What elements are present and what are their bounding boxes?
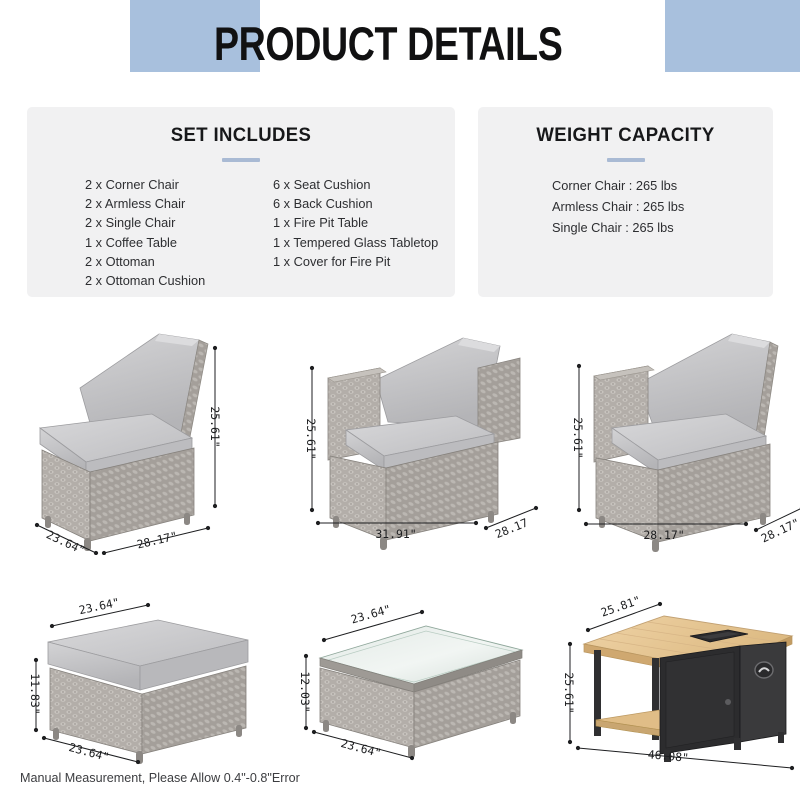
list-item: 1 x Coffee Table	[85, 233, 273, 252]
list-item: 2 x Corner Chair	[85, 175, 273, 194]
dim-height: 25.61"	[208, 406, 222, 447]
page-title: PRODUCT DETAILS	[214, 20, 562, 67]
list-item: 2 x Armless Chair	[85, 194, 273, 213]
list-item: 1 x Cover for Fire Pit	[273, 252, 453, 271]
product-coffee-table: 23.64" 12.03" 23.64"	[288, 600, 550, 770]
dim-width-top: 23.64"	[349, 602, 392, 627]
set-includes-divider	[222, 158, 260, 162]
dim-depth: 23.64"	[339, 736, 382, 760]
list-item: 2 x Single Chair	[85, 213, 273, 232]
dim-height: 12.03"	[298, 671, 312, 712]
list-item: Corner Chair : 265 lbs	[552, 175, 773, 196]
list-item: 1 x Tempered Glass Tabletop	[273, 233, 453, 252]
dim-width: 31.91"	[375, 527, 416, 541]
set-includes-title: SET INCLUDES	[38, 124, 445, 147]
dim-depth-top: 25.81"	[599, 593, 642, 620]
weight-capacity-title: WEIGHT CAPACITY	[485, 124, 765, 147]
weight-capacity-panel: WEIGHT CAPACITY Corner Chair : 265 lbs A…	[478, 107, 773, 297]
set-includes-body: 2 x Corner Chair 2 x Armless Chair 2 x S…	[27, 175, 455, 290]
list-item: 1 x Fire Pit Table	[273, 213, 453, 232]
measurement-disclaimer: Manual Measurement, Please Allow 0.4"-0.…	[20, 771, 300, 785]
list-item: 2 x Ottoman	[85, 252, 273, 271]
list-item: Armless Chair : 265 lbs	[552, 196, 773, 217]
product-corner-chair: 25.61" 28.17" 28.17"	[562, 310, 800, 555]
list-item: 6 x Seat Cushion	[273, 175, 453, 194]
dim-width: 46.08"	[647, 747, 689, 765]
dim-depth: 28.17"	[135, 529, 178, 552]
page-header: PRODUCT DETAILS	[0, 0, 800, 95]
product-single-chair: 25.61" 31.91" 28.17	[288, 310, 558, 555]
dim-width: 28.17"	[643, 528, 684, 542]
product-ottoman: 23.64" 11.83" 23.64"	[18, 590, 280, 770]
header-accent-block-right	[665, 0, 800, 72]
dim-depth: 28.17	[493, 515, 530, 541]
set-includes-panel: SET INCLUDES 2 x Corner Chair 2 x Armles…	[27, 107, 455, 297]
dim-height: 11.83"	[28, 673, 42, 714]
set-includes-column-2: 6 x Seat Cushion 6 x Back Cushion 1 x Fi…	[273, 175, 453, 290]
dim-width-top: 23.64"	[78, 595, 121, 617]
set-includes-column-1: 2 x Corner Chair 2 x Armless Chair 2 x S…	[27, 175, 273, 290]
weight-capacity-divider	[607, 158, 645, 162]
dim-height: 25.61"	[304, 418, 318, 459]
dim-height: 25.61"	[562, 672, 576, 713]
list-item: 2 x Ottoman Cushion	[85, 271, 273, 290]
list-item: 6 x Back Cushion	[273, 194, 453, 213]
dim-height: 25.61"	[571, 417, 585, 458]
list-item: Single Chair : 265 lbs	[552, 217, 773, 238]
product-fire-pit-table: 25.81" 25.61" 46.08"	[548, 592, 800, 772]
weight-capacity-body: Corner Chair : 265 lbs Armless Chair : 2…	[478, 175, 773, 238]
product-armless-chair: 25.61" 23.64" 28.17"	[12, 310, 282, 555]
